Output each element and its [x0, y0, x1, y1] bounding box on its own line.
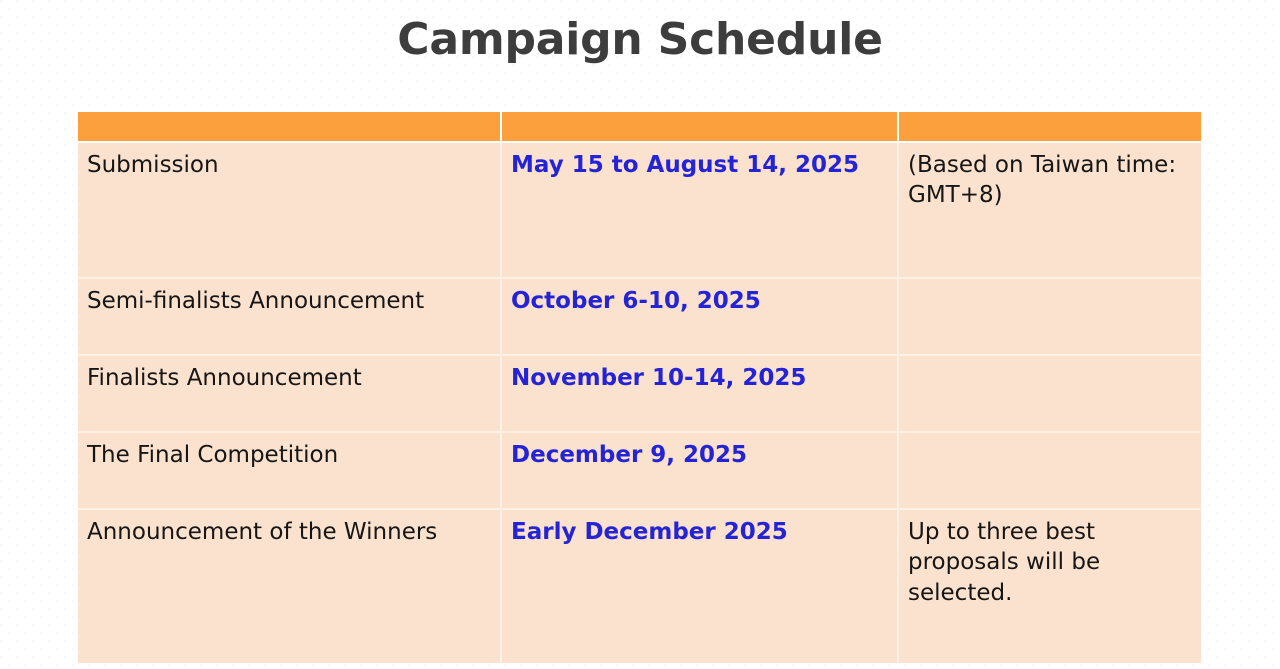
cell-notes-submission: (Based on Taiwan time: GMT+8)	[899, 143, 1201, 279]
cell-phase-finalists: Finalists Announcement	[78, 356, 502, 433]
table-body: Submission May 15 to August 14, 2025 (Ba…	[78, 143, 1201, 663]
cell-date-winners: Early December 2025	[502, 510, 899, 663]
cell-notes-finalists	[899, 356, 1201, 433]
cell-phase-final-competition: The Final Competition	[78, 433, 502, 510]
cell-date-finalists: November 10-14, 2025	[502, 356, 899, 433]
cell-notes-final-competition	[899, 433, 1201, 510]
column-header-date	[502, 112, 899, 143]
page-title: Campaign Schedule	[0, 14, 1280, 67]
cell-notes-semi-finalists	[899, 279, 1201, 356]
table-row: Semi-finalists Announcement October 6-10…	[78, 279, 1201, 356]
table-header-row	[78, 112, 1201, 143]
cell-date-final-competition: December 9, 2025	[502, 433, 899, 510]
cell-phase-submission: Submission	[78, 143, 502, 279]
table-row: Submission May 15 to August 14, 2025 (Ba…	[78, 143, 1201, 279]
cell-phase-winners: Announcement of the Winners	[78, 510, 502, 663]
cell-date-semi-finalists: October 6-10, 2025	[502, 279, 899, 356]
column-header-phase	[78, 112, 502, 143]
slide-canvas: Campaign Schedule Submission May 15 to A…	[0, 0, 1280, 669]
table-row: Finalists Announcement November 10-14, 2…	[78, 356, 1201, 433]
table-header	[78, 112, 1201, 143]
column-header-notes	[899, 112, 1201, 143]
table-row: The Final Competition December 9, 2025	[78, 433, 1201, 510]
table-row: Announcement of the Winners Early Decemb…	[78, 510, 1201, 663]
cell-date-submission: May 15 to August 14, 2025	[502, 143, 899, 279]
campaign-schedule-table: Submission May 15 to August 14, 2025 (Ba…	[78, 112, 1201, 663]
cell-notes-winners: Up to three best proposals will be selec…	[899, 510, 1201, 663]
cell-phase-semi-finalists: Semi-finalists Announcement	[78, 279, 502, 356]
